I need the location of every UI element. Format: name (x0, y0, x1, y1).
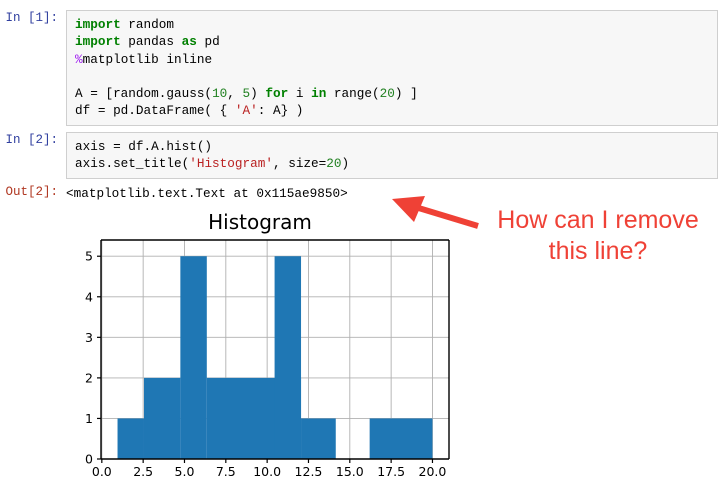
code-editor-1[interactable]: import random import pandas as pd %matpl… (66, 10, 718, 126)
histogram-bar (144, 378, 180, 459)
x-tick-label: 7.5 (216, 464, 236, 479)
histogram-bar (301, 418, 336, 459)
code-editor-2[interactable]: axis = df.A.hist() axis.set_title('Histo… (66, 132, 718, 179)
x-tick-label: 10.0 (253, 464, 281, 479)
code-line-7: axis = df.A.hist() (75, 138, 709, 155)
chart-title: Histogram (60, 210, 460, 234)
code-line-8: axis.set_title('Histogram', size=20) (75, 155, 709, 172)
annotation-line-2: this line? (480, 236, 716, 267)
code-line-2: import pandas as pd (75, 33, 709, 50)
code-line-6: df = pd.DataFrame( { 'A': A} ) (75, 102, 709, 119)
x-tick-label: 2.5 (133, 464, 153, 479)
x-tick-label: 5.0 (175, 464, 195, 479)
x-tick-label: 15.0 (336, 464, 364, 479)
y-tick-label: 1 (85, 411, 93, 426)
y-tick-label: 4 (85, 289, 93, 304)
code-line-5: A = [random.gauss(10, 5) for i in range(… (75, 85, 709, 102)
y-tick-label: 2 (85, 370, 93, 385)
histogram-plot: 0.02.55.07.510.012.515.017.520.0012345 (60, 210, 460, 493)
cell-prompt-in-2: In [2]: (0, 132, 66, 149)
notebook-cell-input-1[interactable]: In [1]: import random import pandas as p… (0, 10, 722, 126)
x-tick-label: 20.0 (419, 464, 447, 479)
cell-prompt-in-1: In [1]: (0, 10, 66, 27)
code-line-3: %matplotlib inline (75, 51, 709, 68)
y-tick-label: 0 (85, 452, 93, 467)
annotation-line-1: How can I remove (480, 205, 716, 236)
histogram-bar (370, 418, 433, 459)
y-tick-label: 3 (85, 330, 93, 345)
x-tick-label: 0.0 (92, 464, 112, 479)
histogram-bar (275, 256, 301, 459)
notebook-cell-input-2[interactable]: In [2]: axis = df.A.hist() axis.set_titl… (0, 132, 722, 179)
output-repr-text: <matplotlib.text.Text at 0x115ae9850> (66, 184, 722, 202)
code-line-1: import random (75, 16, 709, 33)
x-tick-label: 17.5 (377, 464, 405, 479)
x-tick-label: 12.5 (295, 464, 323, 479)
histogram-figure: Histogram 0.02.55.07.510.012.515.017.520… (60, 210, 460, 493)
histogram-bar (118, 418, 144, 459)
cell-prompt-out-2: Out[2]: (0, 184, 66, 201)
notebook-cell-output-2: Out[2]: <matplotlib.text.Text at 0x115ae… (0, 184, 722, 202)
code-line-4 (75, 68, 709, 85)
y-tick-label: 5 (85, 249, 93, 264)
histogram-bar (180, 256, 206, 459)
